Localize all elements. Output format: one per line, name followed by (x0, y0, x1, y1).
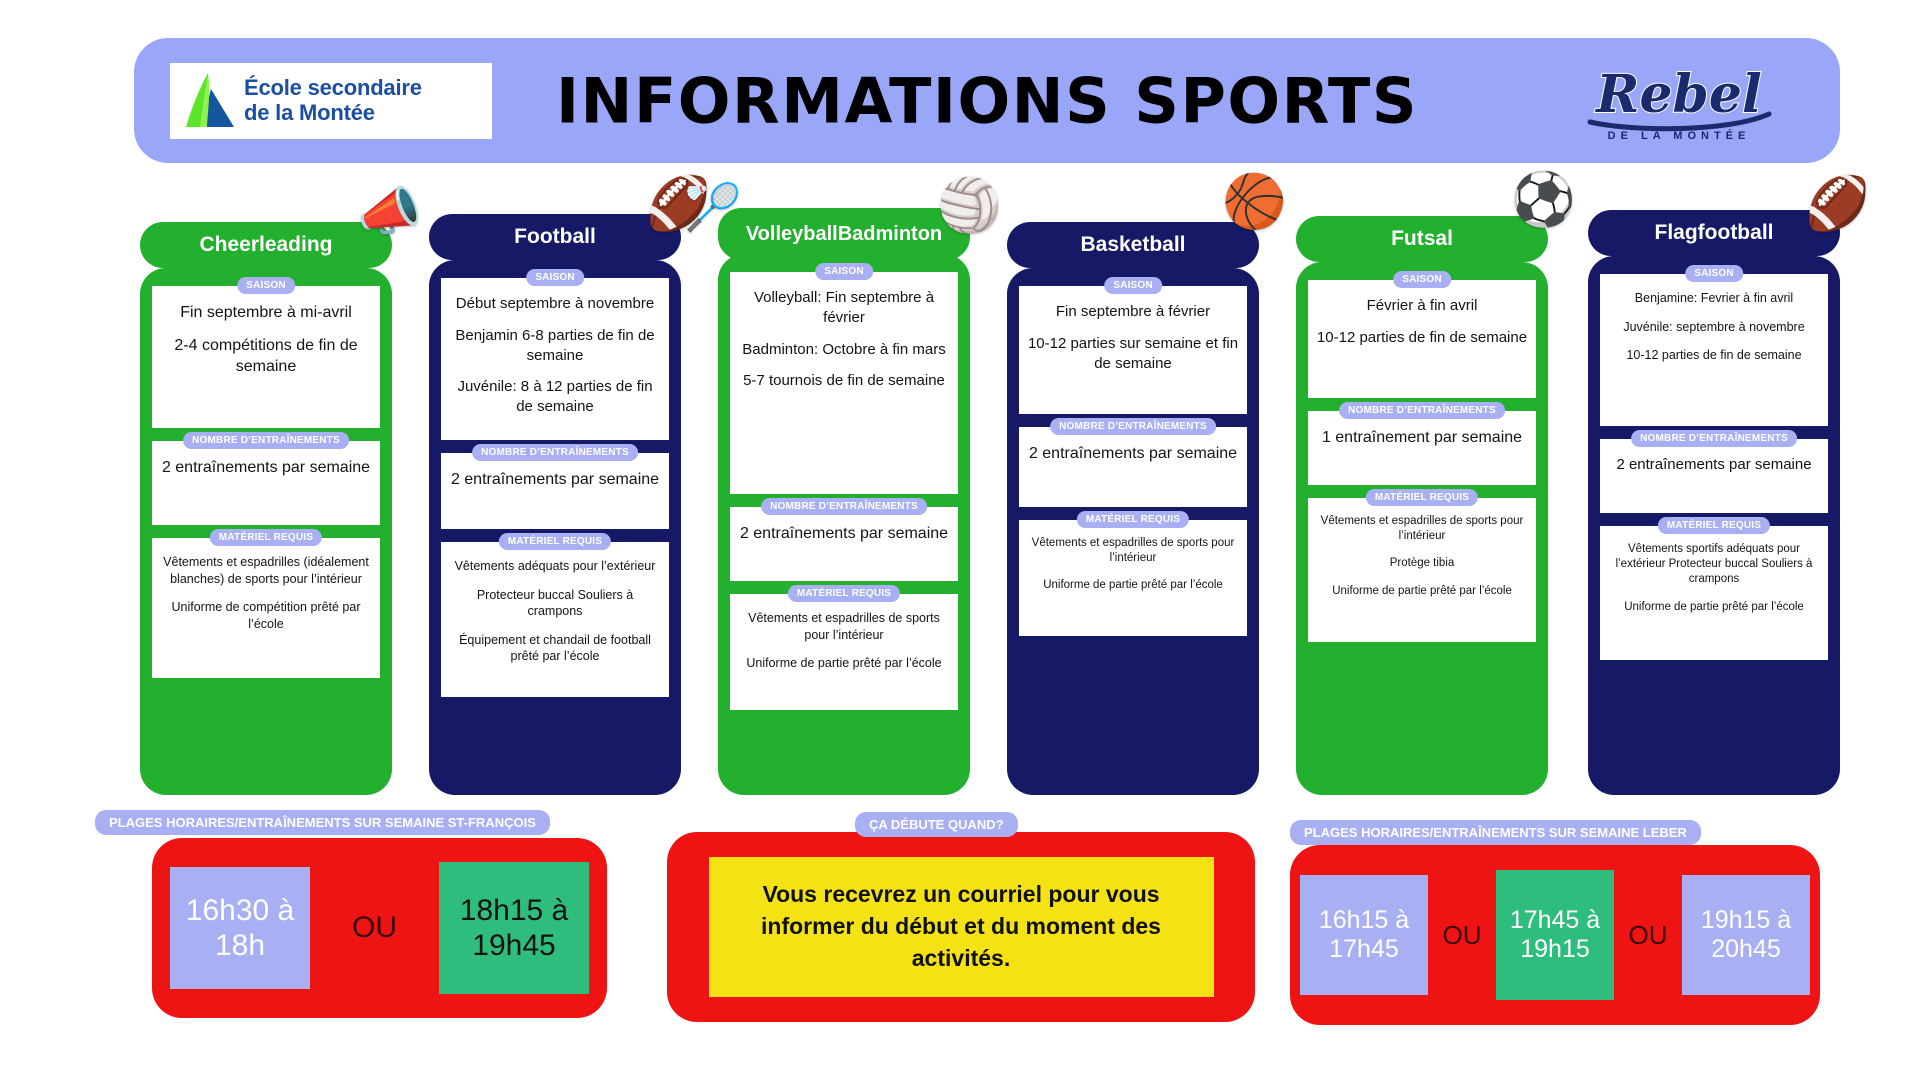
section-text: Vêtements et espadrilles de sports pour … (1027, 536, 1239, 566)
sport-pill-volleyball-badminton[interactable]: VolleyballBadminton (718, 208, 970, 260)
sports-columns: 📣CheerleadingSAISONFin septembre à mi-av… (140, 200, 1840, 795)
section-text: 10-12 parties de fin de semaine (1608, 347, 1820, 364)
schedule-left-separator-1: OU (352, 911, 397, 945)
section-panel-equipment: Vêtements adéquats pour l’extérieurProte… (441, 542, 669, 697)
section-text: 2 entraînements par semaine (449, 469, 661, 490)
section-text: Uniforme de compétition prêté par l’écol… (160, 599, 372, 632)
sport-section-season: SAISONVolleyball: Fin septembre à févrie… (730, 272, 958, 494)
infographic-page: École secondaire de la Montée INFORMATIO… (0, 0, 1920, 1080)
section-panel-trainings: 2 entraînements par semaine (1600, 439, 1828, 513)
section-panel-season: Début septembre à novembreBenjamin 6-8 p… (441, 278, 669, 440)
sport-section-equipment: MATÉRIEL REQUISVêtements adéquats pour l… (441, 542, 669, 697)
sport-column-basketball: 🏀BasketballSAISONFin septembre à février… (1007, 200, 1259, 795)
section-text: 5-7 tournois de fin de semaine (738, 371, 950, 391)
section-text: Benjamine: Fevrier à fin avril (1608, 290, 1820, 307)
section-text: 1 entraînement par semaine (1316, 427, 1528, 448)
section-text: Fin septembre à février (1027, 302, 1239, 322)
sport-section-equipment: MATÉRIEL REQUISVêtements et espadrilles … (1308, 498, 1536, 642)
sport-section-trainings: NOMBRE D’ENTRAÎNEMENTS1 entraînement par… (1308, 411, 1536, 485)
sport-section-equipment: MATÉRIEL REQUISVêtements et espadrilles … (730, 594, 958, 710)
basketball-icon: 🏀 (1222, 176, 1287, 228)
section-badge-equipment: MATÉRIEL REQUIS (788, 585, 900, 602)
section-panel-equipment: Vêtements et espadrilles de sports pour … (730, 594, 958, 710)
svg-text:Rebel: Rebel (1594, 64, 1762, 125)
section-panel-equipment: Vêtements et espadrilles de sports pour … (1308, 498, 1536, 642)
team-logo-subtitle: DE LA MONTÉE (1608, 130, 1751, 142)
section-badge-equipment: MATÉRIEL REQUIS (1077, 511, 1189, 528)
section-text: Vêtements et espadrilles de sports pour … (1316, 514, 1528, 544)
section-text: Protecteur buccal Souliers à crampons (449, 587, 661, 620)
section-panel-equipment: Vêtements sportifs adéquats pour l’extér… (1600, 526, 1828, 660)
start-info-message: Vous recevrez un courriel pour vous info… (709, 857, 1214, 996)
volleyball-icon: 🏐 (937, 180, 1002, 232)
sport-section-season: SAISONFévrier à fin avril10-12 parties d… (1308, 280, 1536, 398)
sport-section-season: SAISONDébut septembre à novembreBenjamin… (441, 278, 669, 440)
sport-column-flagfootball: 🏈FlagfootballSAISONBenjamine: Fevrier à … (1588, 200, 1840, 795)
schedule-left-slot-1: 16h30 à 18h (170, 867, 310, 989)
section-panel-season: Février à fin avril10-12 parties de fin … (1308, 280, 1536, 398)
section-text: Juvénile: 8 à 12 parties de fin de semai… (449, 377, 661, 417)
section-text: 10-12 parties sur semaine et fin de sema… (1027, 334, 1239, 374)
section-panel-trainings: 2 entraînements par semaine (441, 453, 669, 529)
start-info-label: ÇA DÉBUTE QUAND? (855, 812, 1018, 837)
sport-pill-cheerleading[interactable]: Cheerleading (140, 222, 392, 268)
schedule-right-label: PLAGES HORAIRES/ENTRAÎNEMENTS SUR SEMAIN… (1290, 820, 1701, 845)
sport-column-volleyball-badminton: 🏐🏸VolleyballBadmintonSAISONVolleyball: F… (718, 200, 970, 795)
schedule-right-separator-2: OU (1629, 920, 1668, 951)
sport-section-equipment: MATÉRIEL REQUISVêtements et espadrilles … (152, 538, 380, 678)
sport-section-trainings: NOMBRE D’ENTRAÎNEMENTS2 entraînements pa… (152, 441, 380, 525)
section-panel-trainings: 2 entraînements par semaine (730, 507, 958, 581)
section-panel-season: Fin septembre à février10-12 parties sur… (1019, 286, 1247, 414)
sport-card: SAISONVolleyball: Fin septembre à févrie… (718, 254, 970, 795)
section-badge-season: SAISON (1393, 271, 1451, 288)
section-text: Benjamin 6-8 parties de fin de semaine (449, 326, 661, 366)
section-badge-equipment: MATÉRIEL REQUIS (1366, 489, 1478, 506)
sport-pill-football[interactable]: Football (429, 214, 681, 260)
schedule-right-slot-1: 16h15 à 17h45 (1300, 875, 1428, 995)
section-text: Vêtements sportifs adéquats pour l’extér… (1608, 542, 1820, 588)
section-badge-trainings: NOMBRE D’ENTRAÎNEMENTS (1339, 402, 1505, 419)
section-badge-season: SAISON (815, 263, 873, 280)
section-text: Uniforme de partie prêté par l’école (738, 655, 950, 672)
section-badge-trainings: NOMBRE D’ENTRAÎNEMENTS (1631, 430, 1797, 447)
sport-section-equipment: MATÉRIEL REQUISVêtements sportifs adéqua… (1600, 526, 1828, 660)
section-badge-equipment: MATÉRIEL REQUIS (210, 529, 322, 546)
schedule-left-banner: 16h30 à 18h OU 18h15 à 19h45 (152, 838, 607, 1018)
section-panel-equipment: Vêtements et espadrilles de sports pour … (1019, 520, 1247, 636)
start-info-banner: Vous recevrez un courriel pour vous info… (667, 832, 1255, 1022)
section-text: 2-4 compétitions de fin de semaine (160, 335, 372, 377)
schedule-right-slot-3: 19h15 à 20h45 (1682, 875, 1810, 995)
sport-section-season: SAISONBenjamine: Fevrier à fin avrilJuvé… (1600, 274, 1828, 426)
sport-card: SAISONFévrier à fin avril10-12 parties d… (1296, 262, 1548, 795)
section-text: Équipement et chandail de football prêté… (449, 632, 661, 665)
sport-column-cheerleading: 📣CheerleadingSAISONFin septembre à mi-av… (140, 200, 392, 795)
section-badge-season: SAISON (237, 277, 295, 294)
section-badge-season: SAISON (1104, 277, 1162, 294)
section-badge-season: SAISON (526, 269, 584, 286)
section-badge-equipment: MATÉRIEL REQUIS (499, 533, 611, 550)
sport-card: SAISONFin septembre à février10-12 parti… (1007, 268, 1259, 795)
sport-section-season: SAISONFin septembre à février10-12 parti… (1019, 286, 1247, 414)
schedule-right-separator-1: OU (1443, 920, 1482, 951)
megaphone-icon: 📣 (357, 186, 422, 238)
sport-section-trainings: NOMBRE D’ENTRAÎNEMENTS2 entraînements pa… (1600, 439, 1828, 513)
rebel-script-logo-icon: Rebel (1564, 62, 1794, 134)
section-panel-equipment: Vêtements et espadrilles (idéalement bla… (152, 538, 380, 678)
section-text: Février à fin avril (1316, 296, 1528, 316)
section-text: Volleyball: Fin septembre à février (738, 288, 950, 328)
section-badge-trainings: NOMBRE D’ENTRAÎNEMENTS (183, 432, 349, 449)
section-panel-trainings: 2 entraînements par semaine (152, 441, 380, 525)
section-text: Début septembre à novembre (449, 294, 661, 314)
section-panel-trainings: 1 entraînement par semaine (1308, 411, 1536, 485)
sport-column-football: 🏈FootballSAISONDébut septembre à novembr… (429, 200, 681, 795)
schedule-right-banner: 16h15 à 17h45 OU 17h45 à 19h15 OU 19h15 … (1290, 845, 1820, 1025)
section-text: Badminton: Octobre à fin mars (738, 340, 950, 360)
section-text: Vêtements adéquats pour l’extérieur (449, 558, 661, 575)
sport-section-trainings: NOMBRE D’ENTRAÎNEMENTS2 entraînements pa… (1019, 427, 1247, 507)
section-text: Vêtements et espadrilles de sports pour … (738, 610, 950, 643)
sport-section-equipment: MATÉRIEL REQUISVêtements et espadrilles … (1019, 520, 1247, 636)
section-badge-season: SAISON (1685, 265, 1743, 282)
section-panel-trainings: 2 entraînements par semaine (1019, 427, 1247, 507)
sport-section-season: SAISONFin septembre à mi-avril2-4 compét… (152, 286, 380, 428)
section-text: Uniforme de partie prêté par l’école (1027, 578, 1239, 593)
section-panel-season: Volleyball: Fin septembre à févrierBadmi… (730, 272, 958, 494)
page-header: École secondaire de la Montée INFORMATIO… (134, 38, 1840, 163)
schedule-left-label: PLAGES HORAIRES/ENTRAÎNEMENTS SUR SEMAIN… (95, 810, 550, 835)
sport-pill-label-line: Badminton (838, 224, 942, 245)
sport-section-trainings: NOMBRE D’ENTRAÎNEMENTS2 entraînements pa… (441, 453, 669, 529)
sport-section-trainings: NOMBRE D’ENTRAÎNEMENTS2 entraînements pa… (730, 507, 958, 581)
section-text: 2 entraînements par semaine (738, 523, 950, 544)
section-text: Protège tibia (1316, 556, 1528, 571)
american-football-icon: 🏈 (1805, 178, 1870, 230)
sport-card: SAISONDébut septembre à novembreBenjamin… (429, 260, 681, 795)
schedule-right-slot-2: 17h45 à 19h15 (1496, 870, 1614, 1000)
sport-card: SAISONBenjamine: Fevrier à fin avrilJuvé… (1588, 256, 1840, 795)
section-text: Fin septembre à mi-avril (160, 302, 372, 323)
section-text: 2 entraînements par semaine (1608, 455, 1820, 475)
sport-pill-basketball[interactable]: Basketball (1007, 222, 1259, 268)
sport-pill-label-line: Volleyball (746, 224, 838, 245)
section-badge-trainings: NOMBRE D’ENTRAÎNEMENTS (761, 498, 927, 515)
section-badge-trainings: NOMBRE D’ENTRAÎNEMENTS (472, 444, 638, 461)
section-badge-equipment: MATÉRIEL REQUIS (1658, 517, 1770, 534)
sport-pill-flagfootball[interactable]: Flagfootball (1588, 210, 1840, 256)
section-text: Uniforme de partie prêté par l’école (1608, 600, 1820, 615)
sport-card: SAISONFin septembre à mi-avril2-4 compét… (140, 268, 392, 795)
section-panel-season: Benjamine: Fevrier à fin avrilJuvénile: … (1600, 274, 1828, 426)
section-text: 10-12 parties de fin de semaine (1316, 328, 1528, 348)
section-badge-trainings: NOMBRE D’ENTRAÎNEMENTS (1050, 418, 1216, 435)
section-text: Uniforme de partie prêté par l’école (1316, 584, 1528, 599)
sport-column-futsal: ⚽FutsalSAISONFévrier à fin avril10-12 pa… (1296, 200, 1548, 795)
badminton-shuttlecock-icon: 🏸 (684, 184, 741, 230)
soccer-ball-icon: ⚽ (1511, 174, 1576, 226)
section-text: Vêtements et espadrilles (idéalement bla… (160, 554, 372, 587)
section-text: 2 entraînements par semaine (160, 457, 372, 478)
team-logo: Rebel DE LA MONTÉE (1564, 54, 1794, 150)
section-text: Juvénile: septembre à novembre (1608, 319, 1820, 336)
section-panel-season: Fin septembre à mi-avril2-4 compétitions… (152, 286, 380, 428)
schedule-left-slot-2: 18h15 à 19h45 (439, 862, 589, 994)
section-text: 2 entraînements par semaine (1027, 443, 1239, 464)
